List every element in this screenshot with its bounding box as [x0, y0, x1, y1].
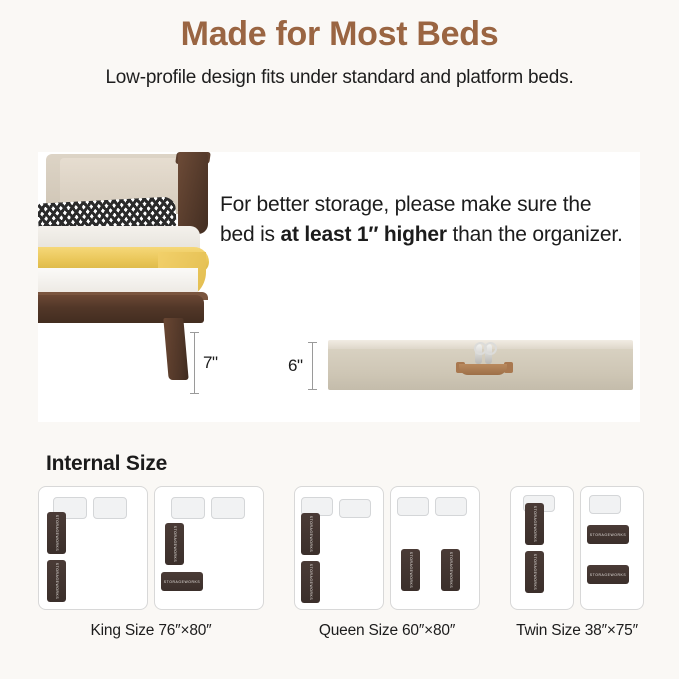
bed-diagram-king-1: STORAGEWORKSSTORAGEWORKS [38, 486, 148, 610]
organizer-shape: STORAGEWORKS [47, 560, 66, 602]
organizer-height-dimension: 6" [288, 342, 317, 390]
pillow-shape [435, 497, 467, 516]
bed-dimension-bar [190, 332, 199, 394]
organizer-height-label: 6" [288, 356, 303, 376]
size-group-twin: STORAGEWORKSSTORAGEWORKSSTORAGEWORKSSTOR… [510, 486, 644, 640]
organizer-shape: STORAGEWORKS [525, 503, 544, 545]
bed-diagram-twin-2: STORAGEWORKSSTORAGEWORKS [580, 486, 644, 610]
dimension-tick-bottom [308, 389, 317, 390]
storage-organizer-photo [328, 340, 633, 390]
organizer-brand-label: STORAGEWORKS [309, 516, 313, 553]
pillow-shape [397, 497, 429, 516]
bed-headboard-post [178, 152, 208, 234]
organizer-brand-label: STORAGEWORKS [590, 573, 627, 577]
bed-diagram-queen-2: STORAGEWORKSSTORAGEWORKS [390, 486, 480, 610]
bed-diagram-twin-1: STORAGEWORKSSTORAGEWORKS [510, 486, 574, 610]
organizer-brand-label: STORAGEWORKS [533, 506, 537, 543]
pillow-shape [339, 499, 371, 518]
hero-panel: For better storage, please make sure the… [38, 152, 640, 422]
bed-height-label: 7" [203, 353, 218, 373]
dimension-rule [312, 342, 313, 390]
organizer-brand-label: STORAGEWORKS [55, 563, 59, 600]
size-groups: STORAGEWORKSSTORAGEWORKSSTORAGEWORKSSTOR… [38, 486, 644, 640]
dimension-rule [194, 332, 195, 394]
leather-handle [459, 364, 507, 375]
organizer-brand-label: STORAGEWORKS [590, 533, 627, 537]
bed-diagram-row: STORAGEWORKSSTORAGEWORKSSTORAGEWORKSSTOR… [510, 486, 644, 610]
organizer-brand-label: STORAGEWORKS [409, 552, 413, 589]
pillow-shape [93, 497, 127, 519]
organizer-dimension-bar [308, 342, 317, 390]
organizer-shape: STORAGEWORKS [587, 525, 629, 544]
organizer-brand-label: STORAGEWORKS [164, 580, 201, 584]
organizer-shape: STORAGEWORKS [587, 565, 629, 584]
size-caption-king: King Size 76″×80″ [91, 622, 212, 640]
size-group-queen: STORAGEWORKSSTORAGEWORKSSTORAGEWORKSSTOR… [294, 486, 480, 640]
organizer-shape: STORAGEWORKS [165, 523, 184, 565]
organizer-shape: STORAGEWORKS [301, 513, 320, 555]
header: Made for Most Beds Low-profile design fi… [0, 0, 679, 89]
organizer-shape: STORAGEWORKS [161, 572, 203, 591]
organizer-shape: STORAGEWORKS [525, 551, 544, 593]
size-group-king: STORAGEWORKSSTORAGEWORKSSTORAGEWORKSSTOR… [38, 486, 264, 640]
instruction-text: For better storage, please make sure the… [220, 190, 630, 250]
bed-diagram-row: STORAGEWORKSSTORAGEWORKSSTORAGEWORKSSTOR… [38, 486, 264, 610]
organizer-shape: STORAGEWORKS [441, 549, 460, 591]
organizer-shape: STORAGEWORKS [301, 561, 320, 603]
bed-diagram-queen-1: STORAGEWORKSSTORAGEWORKS [294, 486, 384, 610]
organizer-brand-label: STORAGEWORKS [449, 552, 453, 589]
instruction-part-2: than the organizer. [447, 223, 623, 246]
size-caption-queen: Queen Size 60″×80″ [319, 622, 455, 640]
page-title: Made for Most Beds [0, 16, 679, 53]
organizer-brand-label: STORAGEWORKS [533, 554, 537, 591]
pillow-shape [589, 495, 621, 514]
bed-diagram-king-2: STORAGEWORKSSTORAGEWORKS [154, 486, 264, 610]
zipper-ring-icon [484, 342, 497, 355]
pillow-shape [171, 497, 205, 519]
bed-leg [163, 318, 188, 380]
organizer-shape: STORAGEWORKS [401, 549, 420, 591]
dimension-tick-bottom [190, 393, 199, 394]
organizer-shape: STORAGEWORKS [47, 512, 66, 554]
size-caption-twin: Twin Size 38″×75″ [516, 622, 638, 640]
bed-diagram-row: STORAGEWORKSSTORAGEWORKSSTORAGEWORKSSTOR… [294, 486, 480, 610]
internal-size-title: Internal Size [46, 452, 167, 476]
organizer-brand-label: STORAGEWORKS [173, 526, 177, 563]
organizer-brand-label: STORAGEWORKS [309, 564, 313, 601]
page-subtitle: Low-profile design fits under standard a… [0, 67, 679, 89]
instruction-emphasis: at least 1″ higher [280, 223, 446, 246]
organizer-brand-label: STORAGEWORKS [55, 515, 59, 552]
bed-height-dimension: 7" [190, 332, 218, 394]
pillow-shape [211, 497, 245, 519]
